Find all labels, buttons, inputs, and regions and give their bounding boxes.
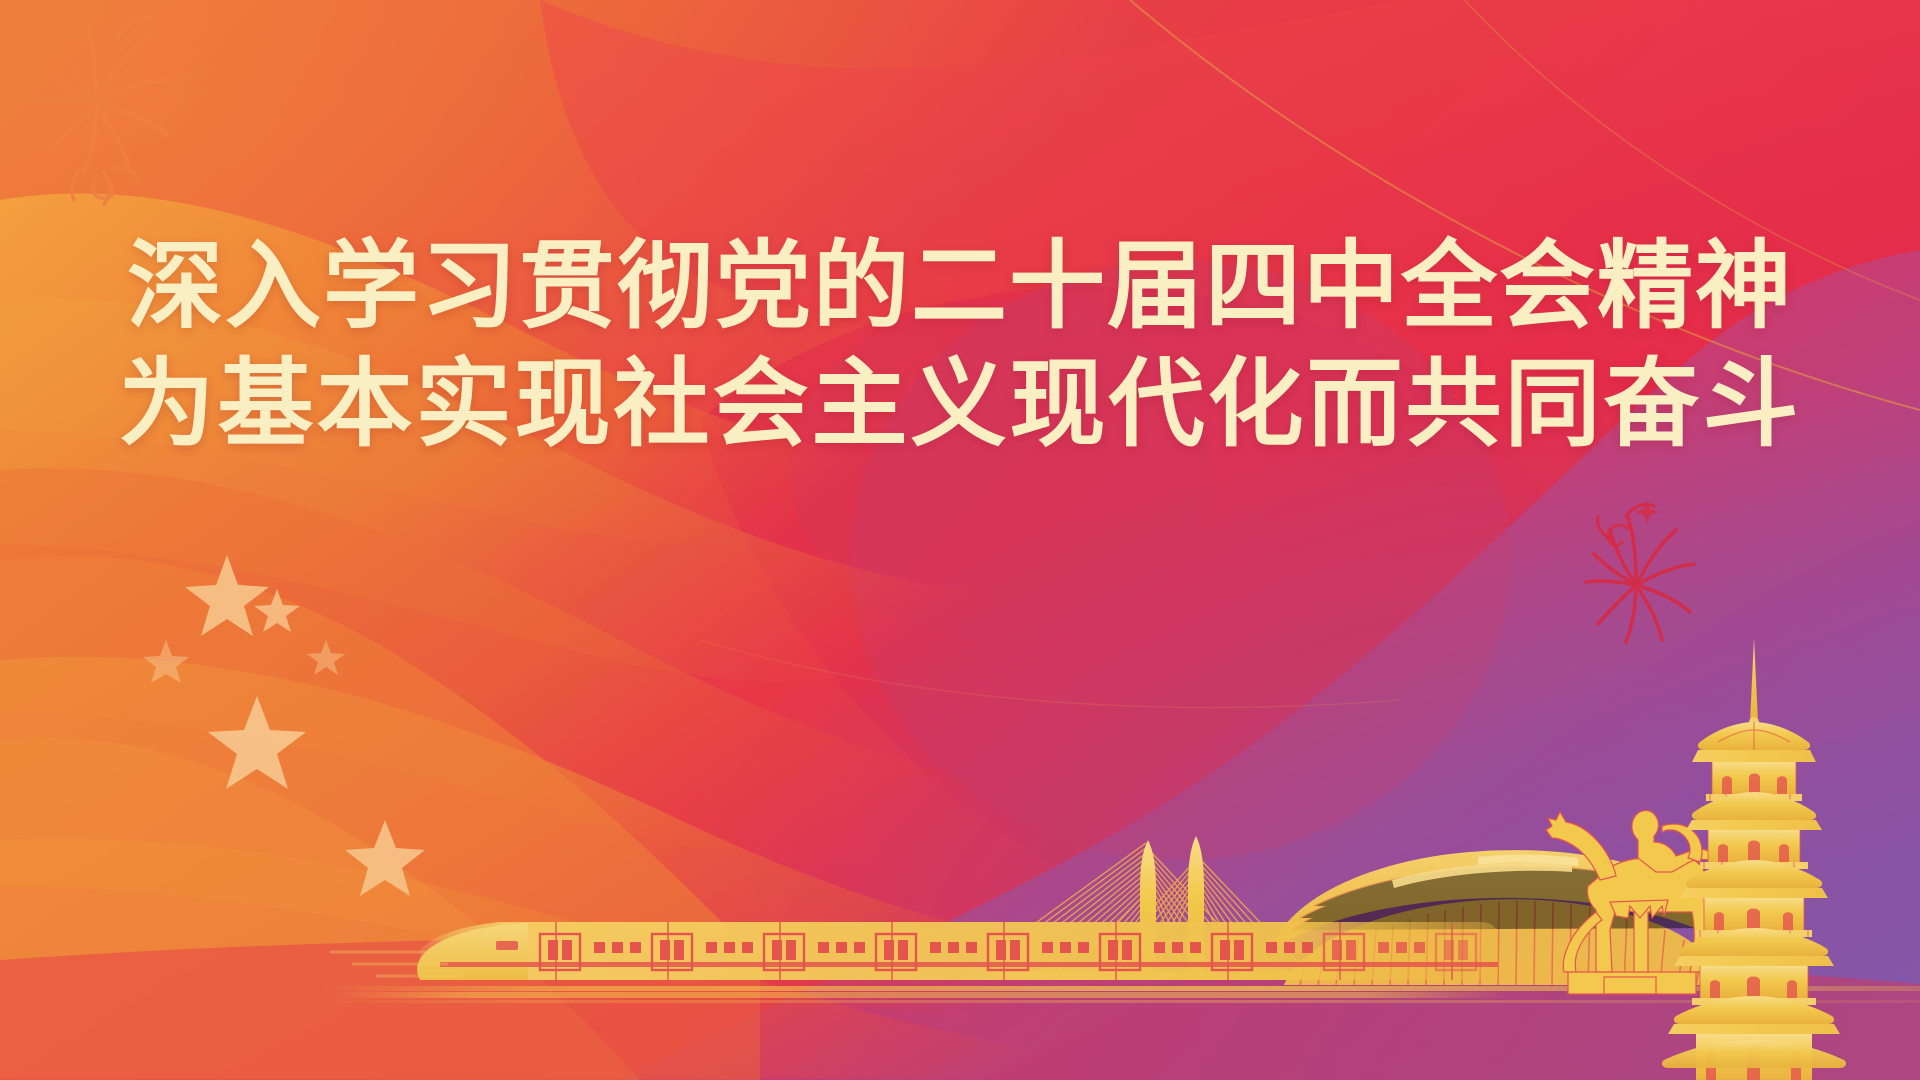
statue-pedestal [1568, 972, 1696, 994]
pagoda-base-eaves [1662, 1040, 1846, 1068]
ground-line-2 [300, 1000, 1920, 1003]
skyline-layer [0, 0, 1920, 1080]
train-nose [417, 923, 528, 980]
poster-canvas: 深入学习贯彻党的二十届四中全会精神 为基本实现社会主义现代化而共同奋斗 [0, 0, 1920, 1080]
pagoda-spire [1750, 638, 1758, 722]
train-rail [330, 992, 1510, 998]
train-cab-window [496, 941, 518, 950]
